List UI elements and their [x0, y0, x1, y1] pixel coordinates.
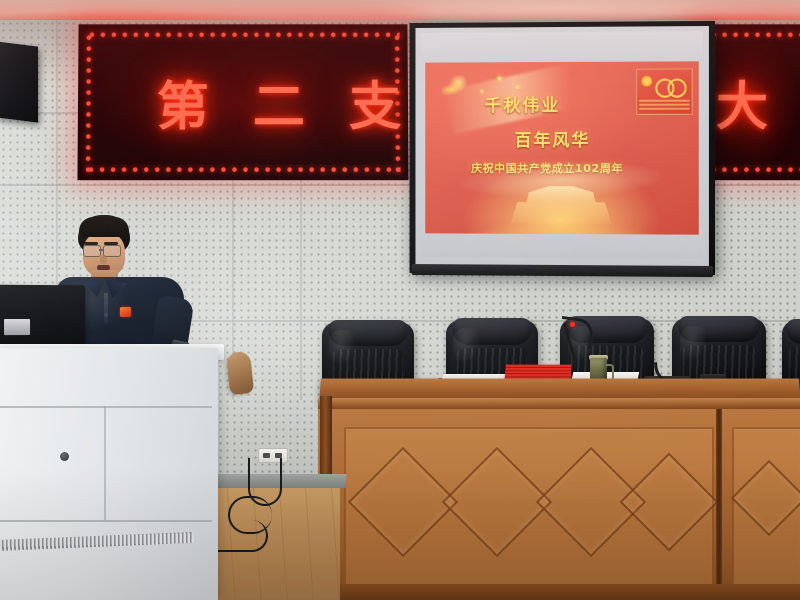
shirt-placket — [104, 293, 108, 323]
podium-seam — [0, 520, 212, 522]
monitor-label-plate — [4, 319, 30, 335]
hair-fringe — [79, 217, 129, 237]
podium-latch[interactable] — [60, 452, 69, 461]
led-banner-text-left: 第 二 支 — [157, 65, 409, 140]
table-section-divider — [716, 409, 722, 594]
screen-surface: ★ ★ ★ 千秋伟业 百年风华 庆祝中国共产党成立102周年 — [415, 26, 708, 267]
slide-headline-2: 百年风华 — [515, 126, 591, 151]
emblem-caption-text — [639, 100, 689, 112]
table-front-panel — [318, 409, 800, 594]
conference-room-photo: 第 二 支 大 ★ ★ ★ — [0, 0, 800, 600]
podium-seam — [104, 406, 106, 520]
ring-icon — [667, 79, 686, 98]
table-plinth — [318, 584, 800, 600]
presentation-slide: ★ ★ ★ 千秋伟业 百年风华 庆祝中国共产党成立102周年 — [425, 61, 699, 234]
slide-bottom-glow — [425, 168, 699, 234]
led-border-dots-left — [85, 32, 93, 172]
nose — [100, 255, 107, 264]
glasses-bridge — [99, 249, 104, 251]
screen-bottom-bar — [412, 264, 713, 277]
glasses-lens — [83, 245, 101, 257]
led-banner-text-right: 大 — [716, 65, 781, 140]
star-icon: ★ — [515, 83, 521, 91]
wall-speaker — [0, 41, 38, 122]
party-emblem-mark — [641, 76, 652, 87]
party-emblem-badge — [120, 307, 131, 317]
led-banner-left: 第 二 支 — [77, 24, 408, 180]
slide-headline-1: 千秋伟业 — [485, 91, 561, 116]
led-border-dots-top — [708, 31, 800, 38]
cpc-anniversary-emblem-icon — [636, 68, 693, 114]
led-border-dots-top — [86, 31, 399, 38]
lectern — [0, 348, 218, 600]
screen-top-margin — [421, 31, 702, 63]
microphone-indicator-light — [570, 322, 575, 327]
podium-seam — [0, 406, 212, 408]
anniversary-rings — [655, 79, 687, 95]
shirt-button — [104, 313, 108, 317]
star-icon: ★ — [496, 74, 504, 84]
led-border-dots-bottom — [708, 166, 800, 173]
podium-monitor[interactable] — [0, 285, 85, 352]
chair-highlight — [329, 330, 366, 383]
shirt-button — [104, 299, 108, 303]
led-border-dots-bottom — [86, 166, 401, 173]
projection-screen: ★ ★ ★ 千秋伟业 百年风华 庆祝中国共产党成立102周年 — [410, 21, 715, 275]
